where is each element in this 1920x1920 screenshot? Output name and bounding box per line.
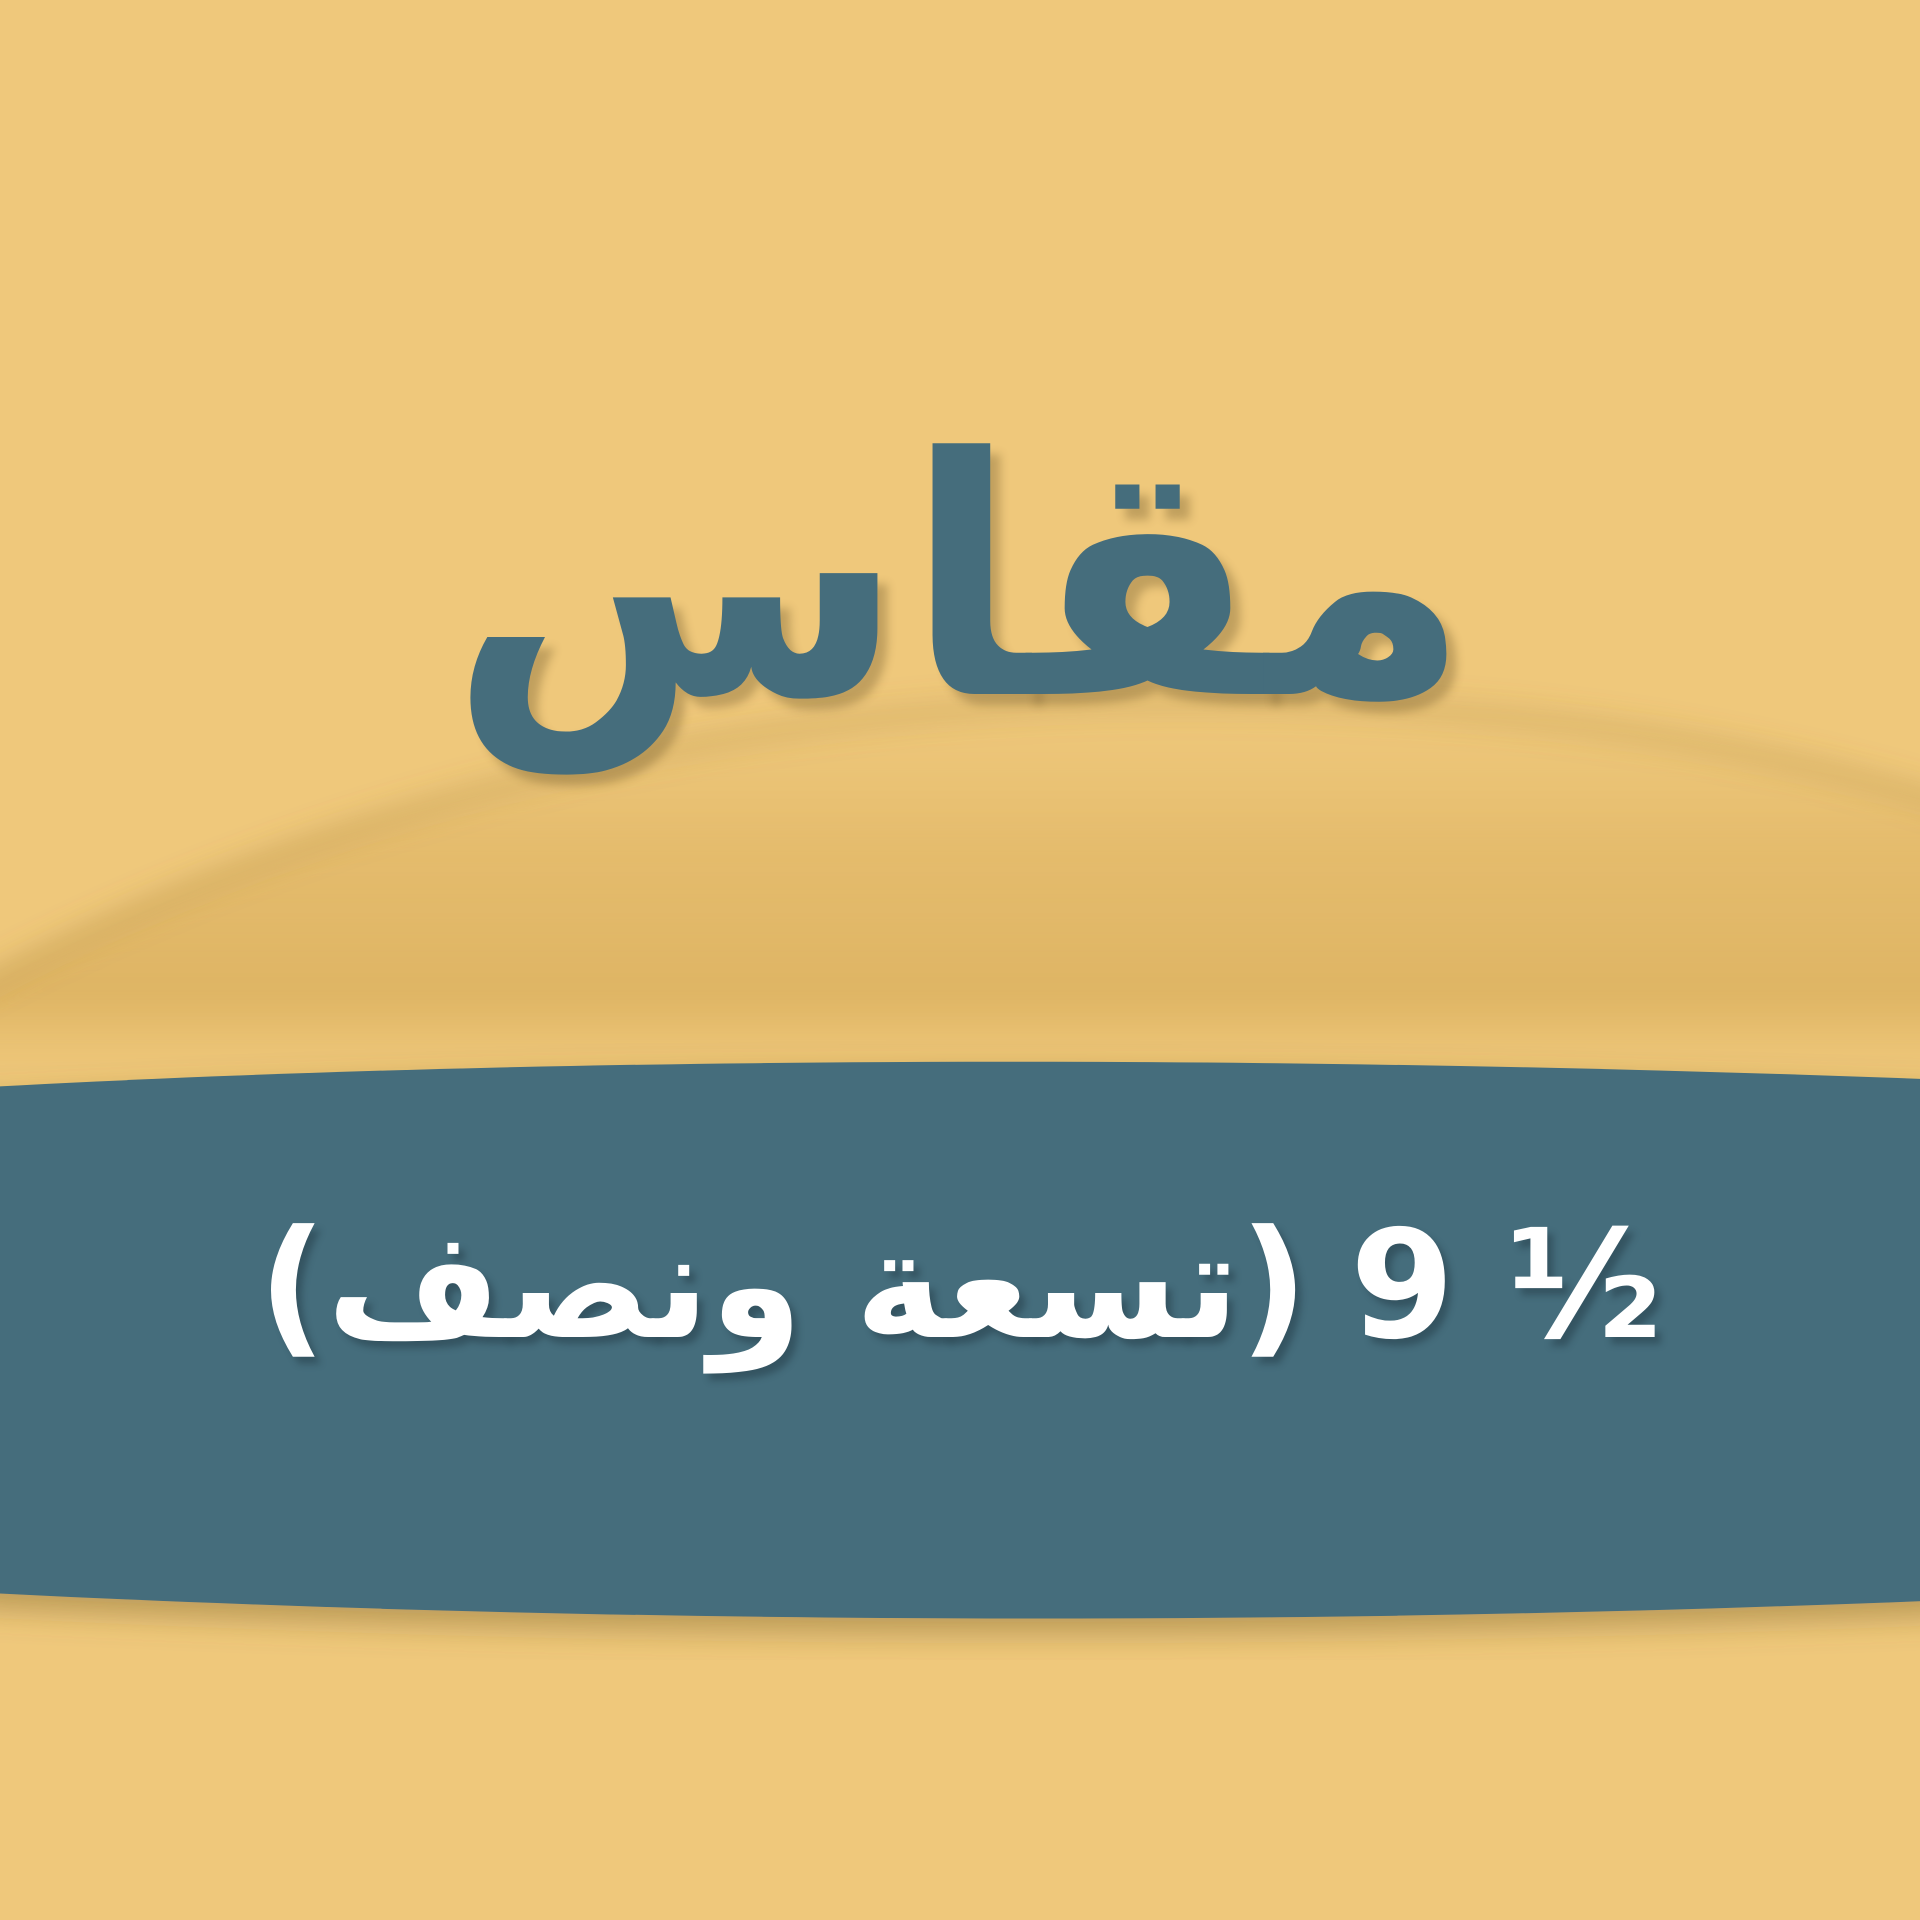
heading-zone: مقاس bbox=[0, 0, 1920, 1075]
size-banner-text-zone: 9 ½(تسعة ونصف) bbox=[0, 1090, 1920, 1590]
size-value-line: 9 ½(تسعة ونصف) bbox=[258, 1090, 1662, 1366]
size-value-words: (تسعة ونصف) bbox=[258, 1199, 1308, 1373]
size-value-numeric: 9 ½ bbox=[1350, 1208, 1662, 1366]
poster-canvas: مقاس 9 ½(تسعة ونصف) bbox=[0, 0, 1920, 1920]
page-title: مقاس bbox=[449, 415, 1470, 1075]
